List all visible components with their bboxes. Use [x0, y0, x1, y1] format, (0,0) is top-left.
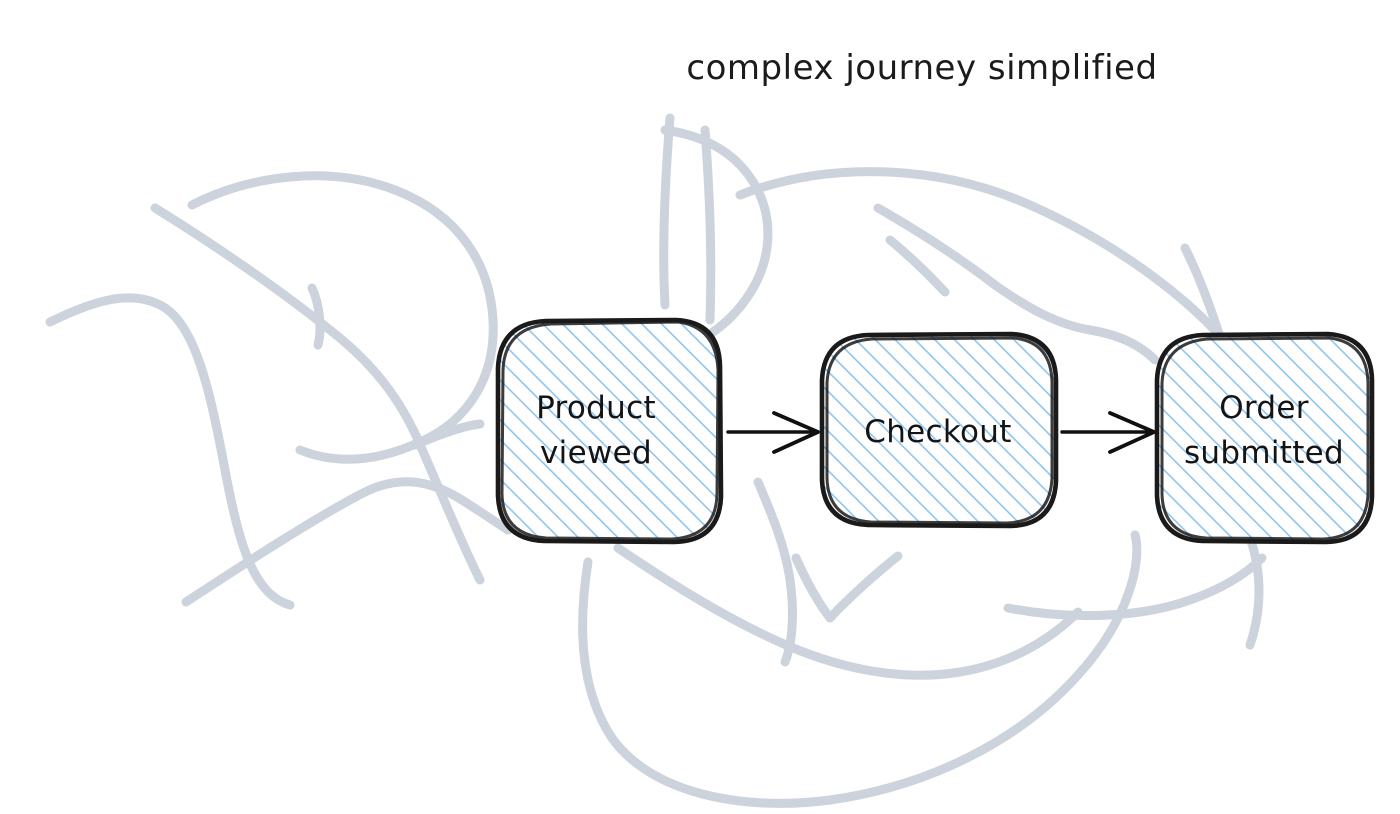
node-label-line-1: Product [536, 390, 656, 426]
diagram-canvas: complex journey simplified Product viewe… [0, 0, 1400, 814]
node-checkout[interactable]: Checkout [822, 334, 1056, 526]
page-title: complex journey simplified [686, 48, 1157, 88]
node-shape [498, 320, 721, 542]
edge-checkout-to-order-submitted [1062, 413, 1154, 452]
node-label-line-2: submitted [1184, 435, 1344, 471]
node-label-line-1: Order [1219, 390, 1309, 426]
node-label-line-1: Checkout [864, 414, 1011, 450]
node-product-viewed[interactable]: Product viewed [498, 320, 721, 542]
diagram-layer: complex journey simplified Product viewe… [0, 0, 1400, 814]
node-label-line-2: viewed [540, 435, 652, 471]
node-order-submitted[interactable]: Order submitted [1157, 334, 1372, 542]
edge-product-viewed-to-checkout [728, 413, 818, 452]
